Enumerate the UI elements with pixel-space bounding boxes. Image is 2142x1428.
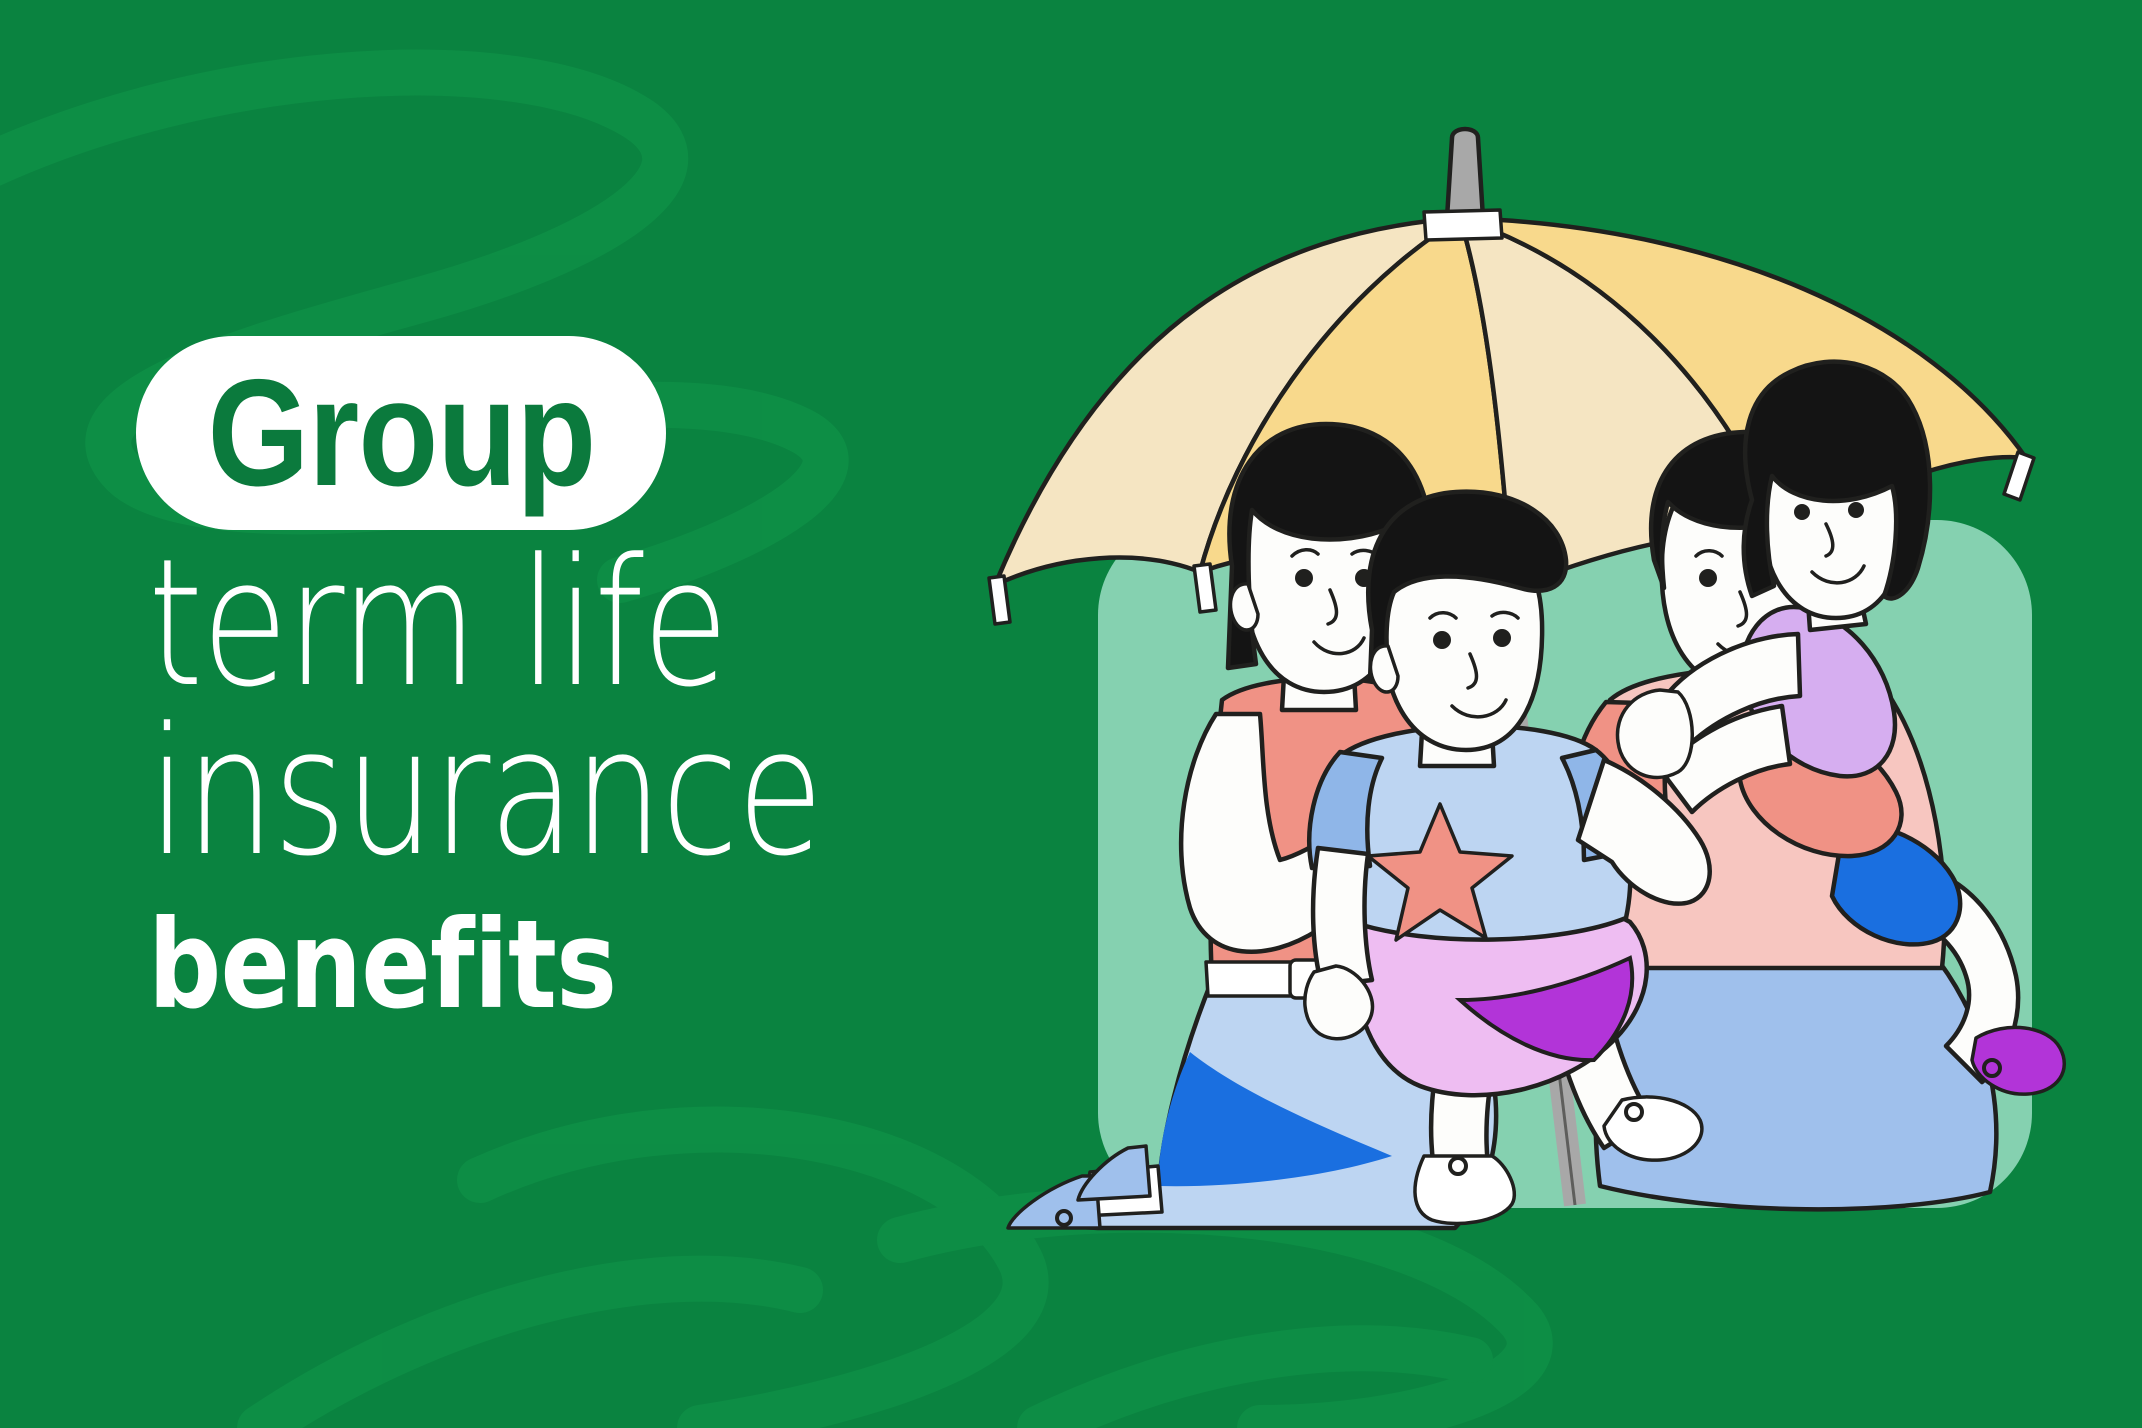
girl-eye-left	[1794, 504, 1810, 520]
umbrella-collar	[1424, 210, 1502, 240]
girl-hand	[1617, 690, 1692, 777]
family-under-umbrella-illustration: .ln { fill:none; stroke:#20201E; stroke-…	[0, 0, 2142, 1428]
boy-eye-right	[1493, 629, 1511, 647]
umbrella-tip-left	[989, 576, 1010, 624]
poster-canvas: Group term life insurance benefits .ln {…	[0, 0, 2142, 1428]
mother-eye-left	[1295, 569, 1313, 587]
umbrella-tip-mid-left	[1194, 564, 1216, 612]
boy-eye-left	[1433, 631, 1451, 649]
father-jeans	[1596, 950, 1997, 1209]
father-eye-left	[1699, 569, 1717, 587]
umbrella-finial	[1447, 129, 1483, 218]
boy-shoe-right	[1604, 1097, 1702, 1160]
boy-arm-left	[1313, 848, 1372, 986]
girl-eye-right	[1848, 502, 1864, 518]
